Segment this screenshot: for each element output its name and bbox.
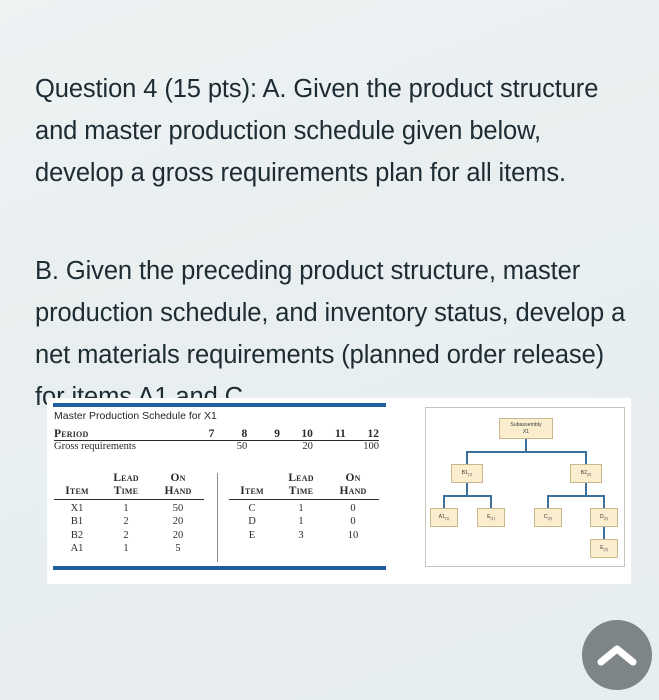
scroll-to-top-button[interactable] <box>582 620 652 690</box>
inventory-table-right: Lead On Item Time Hand C 1 0 <box>229 473 379 541</box>
table-row: E 3 10 <box>229 527 379 541</box>
right-onhand-0: 0 <box>327 500 379 514</box>
connector-b2-up <box>585 451 587 465</box>
mps-period-12: 12 <box>346 428 379 441</box>
gross-req-p12: 100 <box>346 441 379 453</box>
tables-block: Master Production Schedule for X1 Period… <box>47 398 386 584</box>
right-item-0: C <box>229 500 275 514</box>
left-onhand-line1: On <box>170 472 185 484</box>
right-lead-line2: Time <box>289 485 313 497</box>
table-row: D 1 0 <box>229 514 379 528</box>
connector-level1-bus <box>466 451 587 453</box>
product-structure-panel: Subassembly X1 B1(1) B2(2) A1(1) E(1) C(… <box>425 407 625 567</box>
gross-req-p8: 50 <box>214 441 247 453</box>
right-onhand-line2: Hand <box>339 485 366 497</box>
node-b2: B2(2) <box>570 464 602 483</box>
right-onhand-2: 10 <box>327 527 379 541</box>
mps-period-11: 11 <box>313 428 346 441</box>
gross-req-p10: 20 <box>280 441 313 453</box>
connector-e1-up <box>490 495 492 509</box>
figure-card: Master Production Schedule for X1 Period… <box>47 398 631 584</box>
node-b2-qty: (2) <box>587 472 591 476</box>
right-onhand-line1: On <box>345 472 360 484</box>
left-lead-2: 2 <box>100 527 152 541</box>
connector-d-down <box>603 526 605 540</box>
node-a1: A1(1) <box>430 508 458 527</box>
mps-row-label: Gross requirements <box>54 441 182 453</box>
right-item-header: Item <box>240 485 264 497</box>
connector-d-up <box>603 495 605 509</box>
gross-req-p9 <box>247 441 280 453</box>
inventory-table-left: Lead On Item Time Hand X1 1 <box>54 473 204 554</box>
table-row: A1 1 5 <box>54 541 204 555</box>
left-lead-1: 2 <box>100 514 152 528</box>
left-item-3: A1 <box>54 541 100 555</box>
table-row: B2 2 20 <box>54 527 204 541</box>
left-lead-line2: Time <box>114 485 138 497</box>
left-lead-0: 1 <box>100 500 152 514</box>
right-lead-0: 1 <box>275 500 327 514</box>
node-d: D(1) <box>590 508 618 527</box>
table-row: B1 2 20 <box>54 514 204 528</box>
node-e2: E(2) <box>590 539 618 558</box>
left-onhand-1: 20 <box>152 514 204 528</box>
right-item-2: E <box>229 527 275 541</box>
mps-header-row: Period 7 8 9 10 11 12 <box>54 428 379 441</box>
table-row: C 1 0 <box>229 500 379 514</box>
node-e1: E(1) <box>477 508 505 527</box>
connector-b2-bus <box>547 495 605 497</box>
mps-period-8: 8 <box>214 428 247 441</box>
mps-period-label: Period <box>54 428 88 440</box>
right-lead-2: 3 <box>275 527 327 541</box>
left-onhand-0: 50 <box>152 500 204 514</box>
connector-b1-down <box>466 482 468 496</box>
node-root-subassembly-x1: Subassembly X1 <box>499 418 553 439</box>
node-b1: B1(1) <box>451 464 483 483</box>
inventory-vertical-divider <box>217 473 218 562</box>
node-c: C(2) <box>534 508 562 527</box>
left-item-0: X1 <box>54 500 100 514</box>
gross-req-p11 <box>313 441 346 453</box>
node-d-qty: (1) <box>604 516 608 520</box>
question-part-b: B. Given the preceding product structure… <box>35 250 635 418</box>
left-item-1: B1 <box>54 514 100 528</box>
node-b1-qty: (1) <box>468 472 472 476</box>
connector-b1-up <box>466 451 468 465</box>
left-item-2: B2 <box>54 527 100 541</box>
question-body: Question 4 (15 pts): A. Given the produc… <box>0 0 659 700</box>
mps-period-7: 7 <box>182 428 215 441</box>
connector-b1-bus <box>443 495 492 497</box>
left-item-header: Item <box>65 485 89 497</box>
chevron-up-icon <box>597 642 637 668</box>
mps-period-9: 9 <box>247 428 280 441</box>
left-lead-3: 1 <box>100 541 152 555</box>
right-lead-line1: Lead <box>288 472 313 484</box>
mps-title: Master Production Schedule for X1 <box>54 410 217 422</box>
node-root-line2: X1 <box>523 429 529 435</box>
left-onhand-2: 20 <box>152 527 204 541</box>
node-a1-qty: (1) <box>445 516 449 520</box>
connector-c-up <box>547 495 549 509</box>
bottom-rule <box>53 566 386 570</box>
mps-period-10: 10 <box>280 428 313 441</box>
top-rule <box>53 403 386 407</box>
node-e2-qty: (2) <box>604 547 608 551</box>
left-onhand-3: 5 <box>152 541 204 555</box>
table-row: X1 1 50 <box>54 500 204 514</box>
inventory-tables-wrap: Lead On Item Time Hand X1 1 <box>54 473 379 563</box>
gross-req-p7 <box>182 441 215 453</box>
left-onhand-line2: Hand <box>164 485 191 497</box>
left-lead-line1: Lead <box>113 472 138 484</box>
connector-b2-down <box>585 482 587 496</box>
master-production-schedule-table: Period 7 8 9 10 11 12 Gross requirements… <box>54 428 379 452</box>
right-item-1: D <box>229 514 275 528</box>
node-c-qty: (2) <box>548 516 552 520</box>
right-onhand-1: 0 <box>327 514 379 528</box>
node-e1-qty: (1) <box>491 516 495 520</box>
right-lead-1: 1 <box>275 514 327 528</box>
mps-gross-requirements-row: Gross requirements 50 20 100 <box>54 441 379 453</box>
node-root-line1: Subassembly <box>510 422 541 428</box>
connector-a1-up <box>443 495 445 509</box>
question-part-a: Question 4 (15 pts): A. Given the produc… <box>35 68 635 194</box>
connector-root-down <box>525 438 527 452</box>
